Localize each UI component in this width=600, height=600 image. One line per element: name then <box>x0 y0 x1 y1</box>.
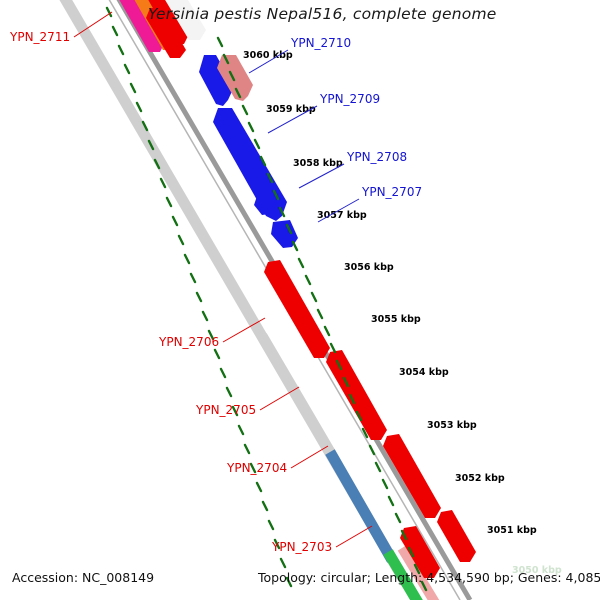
genome-map-viewer[interactable]: 3060 kbp 3059 kbp 3058 kbp 3057 kbp 3056… <box>0 0 600 600</box>
gene-label-ypn-2706[interactable]: YPN_2706 <box>158 335 219 349</box>
tick-label: 3058 kbp <box>293 158 343 169</box>
tick-label: 3057 kbp <box>317 210 367 221</box>
status-accession: Accession: NC_008149 <box>12 570 154 585</box>
tick-label: 3051 kbp <box>487 525 537 536</box>
gene-label-ypn-2710[interactable]: YPN_2710 <box>290 36 351 50</box>
gene-label-ypn-2703[interactable]: YPN_2703 <box>271 540 332 554</box>
gene-label-ypn-2711[interactable]: YPN_2711 <box>9 30 70 44</box>
tick-label: 3054 kbp <box>399 367 449 378</box>
gc-ring-outer <box>107 8 291 586</box>
tick-label: 3053 kbp <box>427 420 477 431</box>
gene-label-ypn-2707[interactable]: YPN_2707 <box>361 185 422 199</box>
tick-label: 3055 kbp <box>371 314 421 325</box>
page-title: Yersinia pestis Nepal516, complete genom… <box>148 5 497 23</box>
status-genome-info: Topology: circular; Length: 4,534,590 bp… <box>258 570 600 585</box>
gene-glyph-ypn-2706[interactable] <box>264 260 330 358</box>
genome-backbone <box>86 0 470 600</box>
gene-name-labels[interactable]: YPN_2711 YPN_2710 YPN_2709 YPN_2708 YPN_… <box>9 30 422 554</box>
gene-label-ypn-2709[interactable]: YPN_2709 <box>319 92 380 106</box>
tick-label: 3056 kbp <box>344 262 394 273</box>
genome-map-canvas[interactable]: 3060 kbp 3059 kbp 3058 kbp 3057 kbp 3056… <box>0 0 600 600</box>
gene-label-ypn-2704[interactable]: YPN_2704 <box>226 461 287 475</box>
leader-line-ypn-2703 <box>336 526 372 547</box>
tick-label: 3059 kbp <box>266 104 316 115</box>
status-bar: Accession: NC_008149 Topology: circular;… <box>0 566 600 600</box>
gene-label-ypn-2708[interactable]: YPN_2708 <box>346 150 407 164</box>
tick-label: 3052 kbp <box>455 473 505 484</box>
gene-label-ypn-2705[interactable]: YPN_2705 <box>195 403 256 417</box>
gene-glyph-ypn-2705[interactable] <box>326 350 387 440</box>
leader-line-ypn-2704 <box>291 446 328 468</box>
